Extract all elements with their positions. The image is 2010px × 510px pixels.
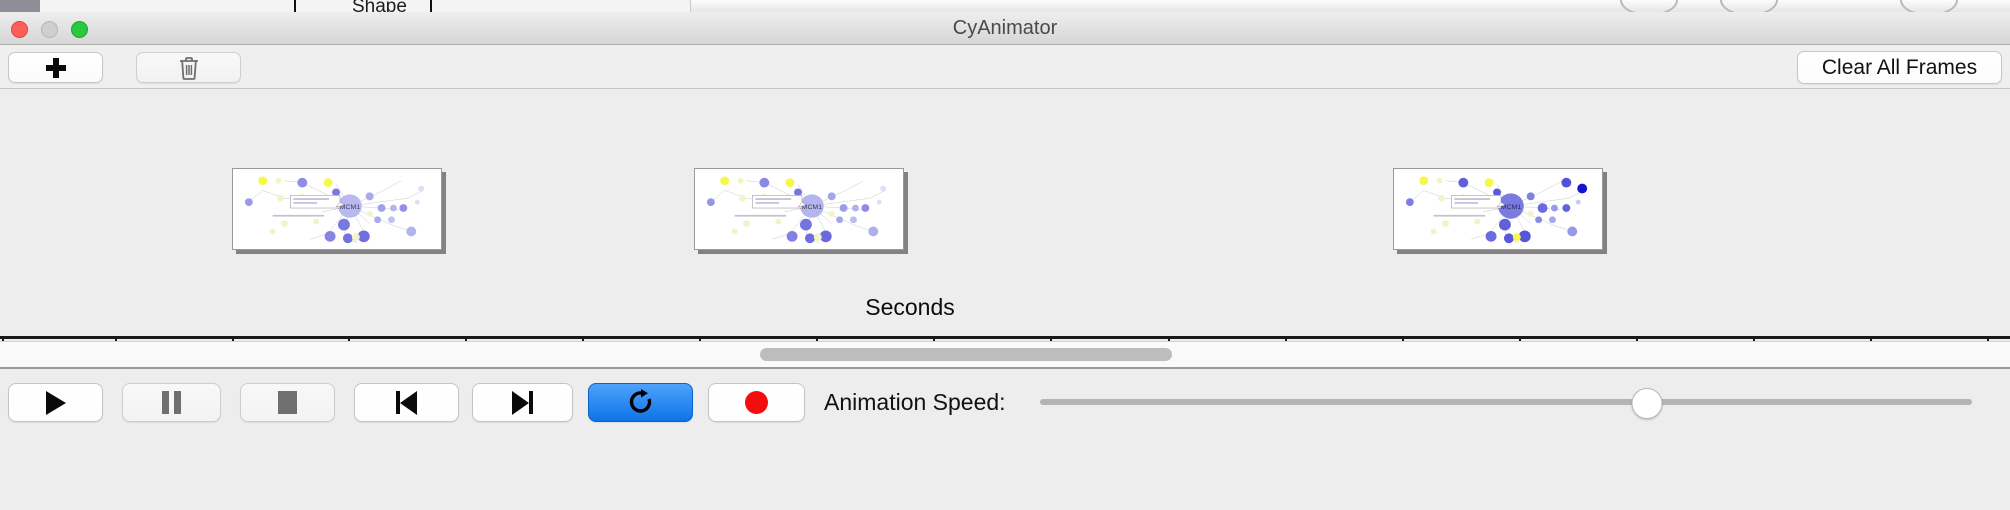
background-tick-icon xyxy=(294,0,296,12)
add-frame-button[interactable] xyxy=(8,52,103,83)
clear-all-frames-label: Clear All Frames xyxy=(1822,56,1977,80)
background-segment xyxy=(0,0,41,12)
record-button[interactable] xyxy=(708,383,805,422)
background-window-label: Shape xyxy=(352,0,407,12)
network-graph-preview: MCM1 xyxy=(233,169,441,249)
timeline-scrollbar-thumb[interactable] xyxy=(760,348,1172,361)
timeline-scrollbar[interactable] xyxy=(0,341,2010,367)
background-segment xyxy=(234,0,327,12)
network-graph-preview: MCM1 xyxy=(695,169,903,249)
clear-all-frames-button[interactable]: Clear All Frames xyxy=(1797,51,2002,84)
animation-speed-slider-track[interactable] xyxy=(1040,399,1972,405)
timeline-panel[interactable]: MCM1 xyxy=(0,89,2010,341)
animation-speed-slider[interactable] xyxy=(1040,383,1972,422)
timeline-axis-title-text: Seconds xyxy=(865,294,955,320)
animation-speed-slider-thumb[interactable] xyxy=(1632,388,1663,419)
pause-button[interactable] xyxy=(122,383,221,422)
ruler-baseline xyxy=(0,336,2010,339)
playback-control-bar: Animation Speed: xyxy=(0,367,2010,510)
background-arc-icon xyxy=(1620,0,1678,12)
background-window-strip: Shape xyxy=(0,0,2010,12)
background-segment xyxy=(166,0,235,12)
loop-button[interactable] xyxy=(588,383,693,422)
delete-frame-button[interactable] xyxy=(136,52,241,83)
frame-thumbnail[interactable]: MCM1 xyxy=(232,168,442,250)
record-icon xyxy=(745,391,768,414)
background-segment xyxy=(40,0,107,12)
cyanimator-window: Shape CyAnimator Clear All Frames xyxy=(0,0,2010,510)
window-title: CyAnimator xyxy=(0,12,2010,45)
skip-forward-icon xyxy=(512,391,533,415)
background-arc-icon xyxy=(1720,0,1778,12)
frame-thumbnail[interactable]: MCM1 xyxy=(694,168,904,250)
network-graph-preview: MCM1 xyxy=(1394,169,1602,249)
animation-speed-label: Animation Speed: xyxy=(824,383,1006,422)
skip-forward-button[interactable] xyxy=(472,383,573,422)
skip-back-button[interactable] xyxy=(354,383,459,422)
background-segment xyxy=(564,0,691,12)
timeline-axis-title: Seconds xyxy=(0,294,2010,321)
play-icon xyxy=(46,391,66,415)
stop-button[interactable] xyxy=(240,383,335,422)
title-bar: CyAnimator xyxy=(0,12,2010,45)
skip-back-icon xyxy=(396,391,417,415)
loop-icon xyxy=(628,389,654,417)
trash-icon xyxy=(178,56,200,80)
pause-icon xyxy=(162,391,181,414)
background-segment xyxy=(106,0,167,12)
play-button[interactable] xyxy=(8,383,103,422)
stop-icon xyxy=(278,391,297,414)
frame-thumbnail[interactable]: MCM1 xyxy=(1393,168,1603,250)
background-tick-icon xyxy=(430,0,432,12)
plus-icon xyxy=(45,57,67,79)
toolbar: Clear All Frames xyxy=(0,45,2010,89)
background-arc-icon xyxy=(1900,0,1958,12)
background-segment xyxy=(446,0,565,12)
